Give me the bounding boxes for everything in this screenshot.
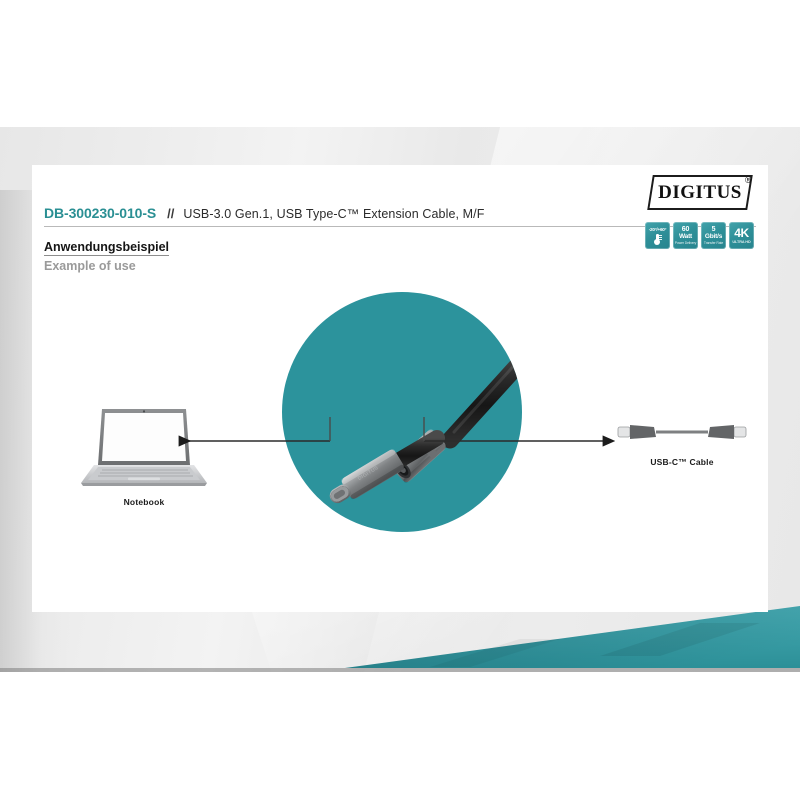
badge-resolution-sub: ULTRA HD xyxy=(732,240,750,244)
title-separator: // xyxy=(167,206,174,221)
product-sku: DB-300230-010-S xyxy=(44,205,156,221)
badge-power: 60 Watt Power Delivery xyxy=(673,222,698,249)
badge-bandwidth-sub: Transfer Rate xyxy=(704,241,723,245)
badge-bandwidth-value: 5 xyxy=(712,226,716,233)
wedge-base-shadow xyxy=(0,668,800,672)
badge-bandwidth-unit: Gbit/s xyxy=(705,233,722,240)
spec-badges: -20°/+60° 60 Watt Power Delivery 5 Gbit/… xyxy=(645,222,754,249)
badge-temperature: -20°/+60° xyxy=(645,222,670,249)
badge-power-unit: Watt xyxy=(679,233,692,240)
badge-power-sub: Power Delivery xyxy=(675,241,696,245)
heading-german: Anwendungsbeispiel xyxy=(44,240,169,256)
thermometer-icon xyxy=(653,234,662,245)
usage-diagram: DIGITUS DIGITUS xyxy=(32,275,768,595)
connector-arrows xyxy=(32,275,768,595)
section-heading: Anwendungsbeispiel Example of use xyxy=(44,238,169,273)
badge-power-value: 60 xyxy=(682,226,689,233)
badge-bandwidth: 5 Gbit/s Transfer Rate xyxy=(701,222,726,249)
badge-resolution-value: 4K xyxy=(734,227,749,239)
heading-english: Example of use xyxy=(44,259,169,273)
badge-temperature-value: -20°/+60° xyxy=(649,227,667,233)
page-canvas: DIGITUS ® DB-300230-010-S // USB-3.0 Gen… xyxy=(0,0,800,800)
registered-trademark-icon: ® xyxy=(745,175,752,185)
badge-resolution: 4K ULTRA HD xyxy=(729,222,754,249)
product-sheet: DIGITUS ® DB-300230-010-S // USB-3.0 Gen… xyxy=(32,165,768,612)
logo-wordmark: DIGITUS xyxy=(652,177,748,208)
product-description: USB-3.0 Gen.1, USB Type-C™ Extension Cab… xyxy=(183,207,484,221)
